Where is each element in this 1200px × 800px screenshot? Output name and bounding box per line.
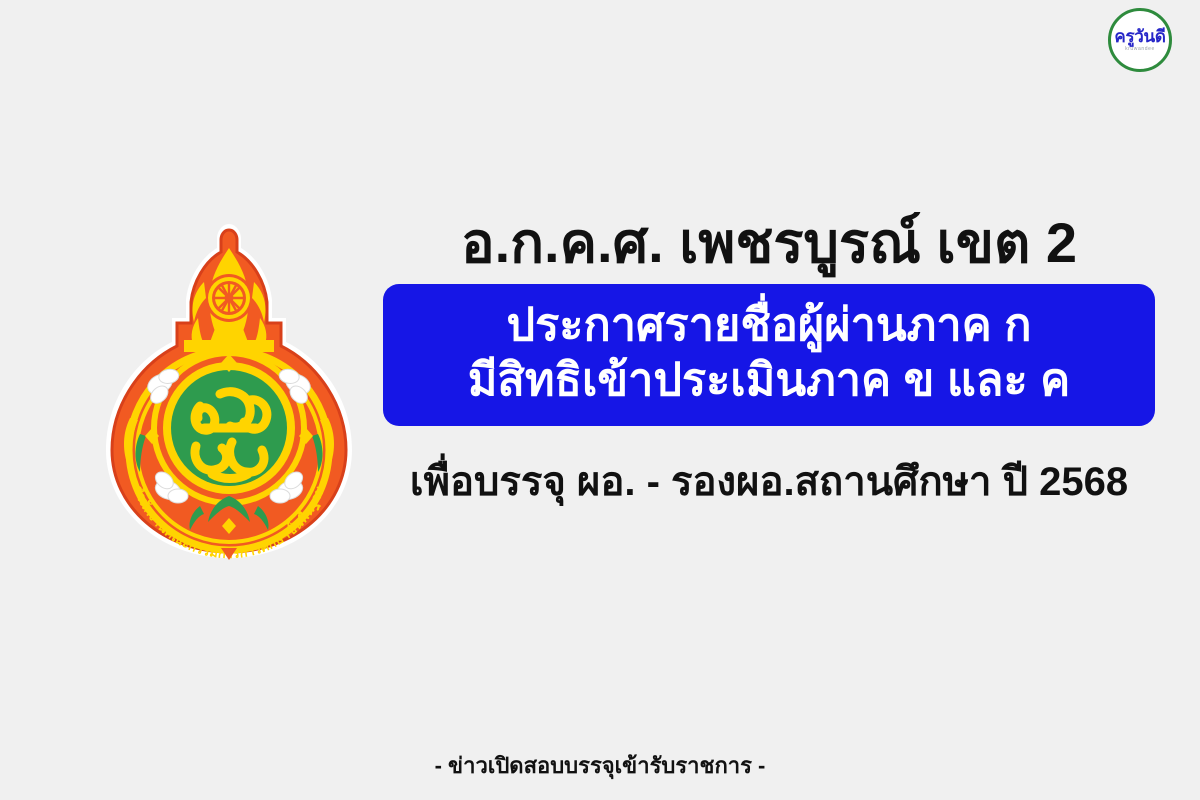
- highlight-line-1: ประกาศรายชื่อผู้ผ่านภาค ก: [393, 298, 1145, 353]
- page-title: อ.ก.ค.ศ. เพชรบูรณ์ เขต 2: [378, 210, 1160, 276]
- highlight-line-2: มีสิทธิเข้าประเมินภาค ข และ ค: [393, 353, 1145, 408]
- highlight-box: ประกาศรายชื่อผู้ผ่านภาค ก มีสิทธิเข้าประ…: [383, 284, 1155, 426]
- obec-emblem: สำนักงานคณะกรรมการการศึกษาขั้นพื้นฐาน: [100, 222, 358, 562]
- brand-badge-subtitle: kruwandee: [1125, 47, 1155, 52]
- poster-canvas: ครูวันดี kruwandee: [0, 0, 1200, 800]
- brand-badge[interactable]: ครูวันดี kruwandee: [1108, 8, 1172, 72]
- brand-badge-name: ครูวันดี: [1114, 28, 1165, 45]
- footer-note: - ข่าวเปิดสอบบรรจุเข้ารับราชการ -: [0, 748, 1200, 783]
- subtitle-line: เพื่อบรรจุ ผอ. - รองผอ.สถานศึกษา ปี 2568: [378, 458, 1160, 506]
- content-column: อ.ก.ค.ศ. เพชรบูรณ์ เขต 2 ประกาศรายชื่อผู…: [378, 210, 1160, 506]
